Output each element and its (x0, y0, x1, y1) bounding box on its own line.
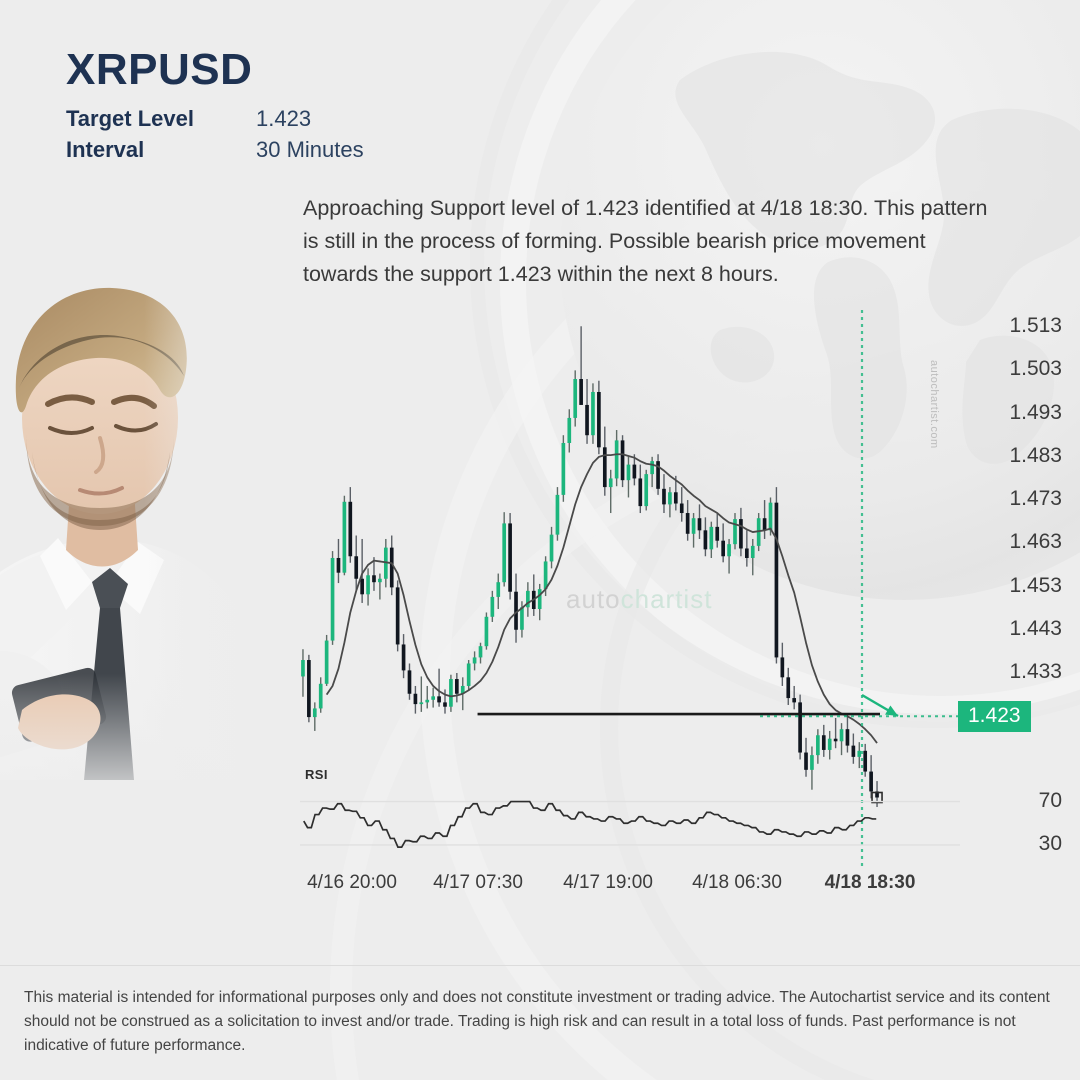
y-axis-tick: 1.433 (1009, 660, 1062, 684)
y-axis-tick: 1.463 (1009, 530, 1062, 554)
x-axis-tick: 4/18 18:30 (790, 872, 950, 894)
target-price-label: 1.423 (958, 701, 1031, 732)
target-level-value: 1.423 (256, 106, 311, 132)
autochartist-url-watermark: autochartist.com (928, 360, 940, 449)
poster-root: XRPUSD Target Level 1.423 Interval 30 Mi… (0, 0, 1080, 1080)
watermark-chartist: chartist (621, 584, 713, 614)
interval-row: Interval 30 Minutes (66, 137, 364, 163)
disclaimer-text: This material is intended for informatio… (24, 986, 1058, 1058)
target-level-label: Target Level (66, 106, 256, 132)
y-axis-tick: 1.513 (1009, 314, 1062, 338)
rsi-level-label: 70 (1039, 789, 1062, 813)
y-axis-tick: 1.443 (1009, 617, 1062, 641)
y-axis-tick: 1.493 (1009, 401, 1062, 425)
interval-value: 30 Minutes (256, 137, 364, 163)
autochartist-watermark: autochartist (566, 584, 712, 615)
page-title: XRPUSD (66, 48, 364, 92)
pattern-description: Approaching Support level of 1.423 ident… (303, 192, 993, 291)
header: XRPUSD Target Level 1.423 Interval 30 Mi… (66, 48, 364, 168)
rsi-level-label: 30 (1039, 832, 1062, 856)
y-axis-tick: 1.473 (1009, 487, 1062, 511)
y-axis-tick: 1.503 (1009, 357, 1062, 381)
y-axis-tick: 1.483 (1009, 444, 1062, 468)
y-axis-tick: 1.453 (1009, 574, 1062, 598)
target-level-row: Target Level 1.423 (66, 106, 364, 132)
footer-divider (0, 965, 1080, 966)
watermark-auto: auto (566, 584, 621, 614)
interval-label: Interval (66, 137, 256, 163)
rsi-label: RSI (305, 767, 328, 782)
